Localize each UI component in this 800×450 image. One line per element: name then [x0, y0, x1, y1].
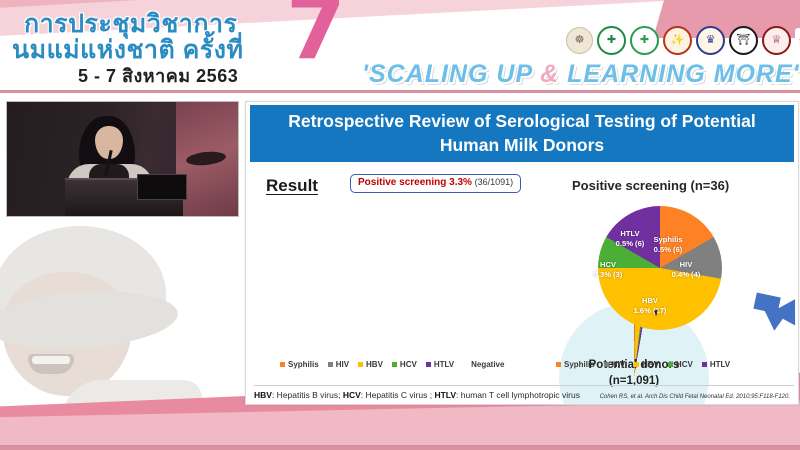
conference-date: 5 - 7 สิงหาคม 2563	[78, 61, 238, 90]
background-child-photo	[0, 222, 242, 422]
legend-label-syphilis: Syphilis	[288, 360, 319, 369]
legend2-swatch-syphilis	[556, 362, 561, 367]
legend-swatch-hiv	[328, 362, 333, 367]
legend2-swatch-htlv	[702, 362, 707, 367]
legend2-label-hcv: HCV	[676, 360, 693, 369]
legend-swatch-hbv	[358, 362, 363, 367]
header-divider	[0, 90, 800, 93]
legend-swatch-syphilis	[280, 362, 285, 367]
abbrev-hcv-def: : Hepatitis C virus ;	[361, 390, 435, 400]
slice-name-hbv: HBV	[620, 296, 680, 306]
ministry-public-health-logo: ✚	[597, 26, 626, 55]
abbrev-hbv-def: : Hepatitis B virus;	[272, 390, 343, 400]
legend-item-hiv: HIV	[328, 360, 349, 369]
legend2-label-syphilis: Syphilis	[564, 360, 595, 369]
legend-item-hbv: HBV	[358, 360, 383, 369]
legend-label-negative: Negative	[471, 360, 504, 369]
abbrev-hbv-key: HBV	[254, 390, 272, 400]
conference-tagline: 'SCALING UP & LEARNING MORE'	[362, 60, 800, 89]
abbrev-htlv-key: HTLV	[434, 390, 456, 400]
slice-name-hcv: HCV	[586, 260, 630, 270]
pie-slice-label-hcv: HCV 0.3% (3)	[586, 260, 630, 280]
conference-header-banner: 7 การประชุมวิชาการ นมแม่แห่งชาติ ครั้งที…	[0, 0, 800, 93]
abbrev-htlv-def: : human T cell lymphotropic virus	[456, 390, 580, 400]
national-institute-logo: ♕	[762, 26, 791, 55]
source-citation: Cohen RS, et al. Arch Dis Child Fetal Ne…	[600, 394, 794, 400]
slice-name-htlv: HTLV	[606, 229, 654, 239]
legend-swatch-negative	[463, 362, 468, 367]
legend-swatch-hcv	[392, 362, 397, 367]
legend-label-hiv: HIV	[336, 360, 349, 369]
child-teeth	[32, 356, 70, 364]
slice-value-hiv: 0.4% (4)	[664, 270, 708, 280]
flow-arrow-icon	[748, 292, 799, 336]
slice-value-hcv: 0.3% (3)	[586, 270, 630, 280]
legend-item-hcv: HCV	[392, 360, 417, 369]
legend2-item-hiv: HIV	[604, 360, 625, 369]
tagline-part1: 'SCALING UP	[362, 60, 540, 88]
legend-label-hcv: HCV	[400, 360, 417, 369]
slide-content-panel: Retrospective Review of Serological Test…	[245, 101, 799, 405]
slice-value-hbv: 1.6% (17)	[620, 306, 680, 316]
abbrev-hcv-key: HCV	[343, 390, 361, 400]
tagline-ampersand: &	[540, 60, 559, 88]
legend2-label-hiv: HIV	[612, 360, 625, 369]
positive-screening-callout: Positive screening 3.3% (36/1091)	[350, 174, 521, 193]
legend2-item-htlv: HTLV	[702, 360, 730, 369]
legend2-swatch-hbv	[634, 362, 639, 367]
legend-label-hbv: HBV	[366, 360, 383, 369]
pie-slice-label-htlv: HTLV 0.5% (6)	[606, 229, 654, 249]
abbreviations-note: HBV: Hepatitis B virus; HCV: Hepatitis C…	[254, 390, 580, 400]
slice-name-hiv: HIV	[664, 260, 708, 270]
legend2-swatch-hiv	[604, 362, 609, 367]
thaihealth-sso-logo: สสส	[795, 28, 800, 53]
legend2-label-hbv: HBV	[642, 360, 659, 369]
legend2-item-syphilis: Syphilis	[556, 360, 595, 369]
slide-presentation-screen: 7 การประชุมวิชาการ นมแม่แห่งชาติ ครั้งที…	[0, 0, 800, 450]
sponsor-logo-row: ☸ ✚ ✚ ✨ ♛ ⛩ ♕ สสส	[566, 26, 800, 55]
legend2-item-hcv: HCV	[668, 360, 693, 369]
thai-royal-emblem-logo: ☸	[566, 27, 593, 54]
pie-slice-label-hbv: HBV 1.6% (17)	[620, 296, 680, 316]
legend2-label-htlv: HTLV	[710, 360, 730, 369]
positive-screening-legend: Syphilis HIV HBV HCV HTLV	[556, 360, 730, 369]
pie-slice-label-hiv: HIV 0.4% (4)	[664, 260, 708, 280]
slide-title: Retrospective Review of Serological Test…	[250, 105, 794, 162]
potential-donors-legend: Syphilis HIV HBV HCV HTLV Negative	[280, 360, 504, 369]
slide-footnote: HBV: Hepatitis B virus; HCV: Hepatitis C…	[254, 385, 794, 400]
presenter-video-feed[interactable]	[6, 101, 239, 217]
thai-pediatric-society-logo: ♛	[696, 26, 725, 55]
legend-item-htlv: HTLV	[426, 360, 454, 369]
legend-label-htlv: HTLV	[434, 360, 454, 369]
callout-sub-text: (36/1091)	[475, 177, 514, 187]
university-seal-logo: ⛩	[729, 26, 758, 55]
slice-value-htlv: 0.5% (6)	[606, 239, 654, 249]
legend2-swatch-hcv	[668, 362, 673, 367]
department-health-logo: ✚	[630, 26, 659, 55]
result-heading: Result	[266, 176, 318, 196]
royal-college-logo: ✨	[663, 26, 692, 55]
tagline-part2: LEARNING MORE'	[559, 60, 799, 88]
positive-screening-pie-title: Positive screening (n=36)	[572, 178, 729, 193]
callout-main-text: Positive screening 3.3%	[358, 177, 472, 188]
legend-swatch-htlv	[426, 362, 431, 367]
legend-item-negative: Negative	[463, 360, 504, 369]
legend2-item-hbv: HBV	[634, 360, 659, 369]
laptop	[137, 174, 187, 200]
footer-divider	[0, 445, 800, 450]
legend-item-syphilis: Syphilis	[280, 360, 319, 369]
edition-number: 7	[286, 0, 346, 72]
